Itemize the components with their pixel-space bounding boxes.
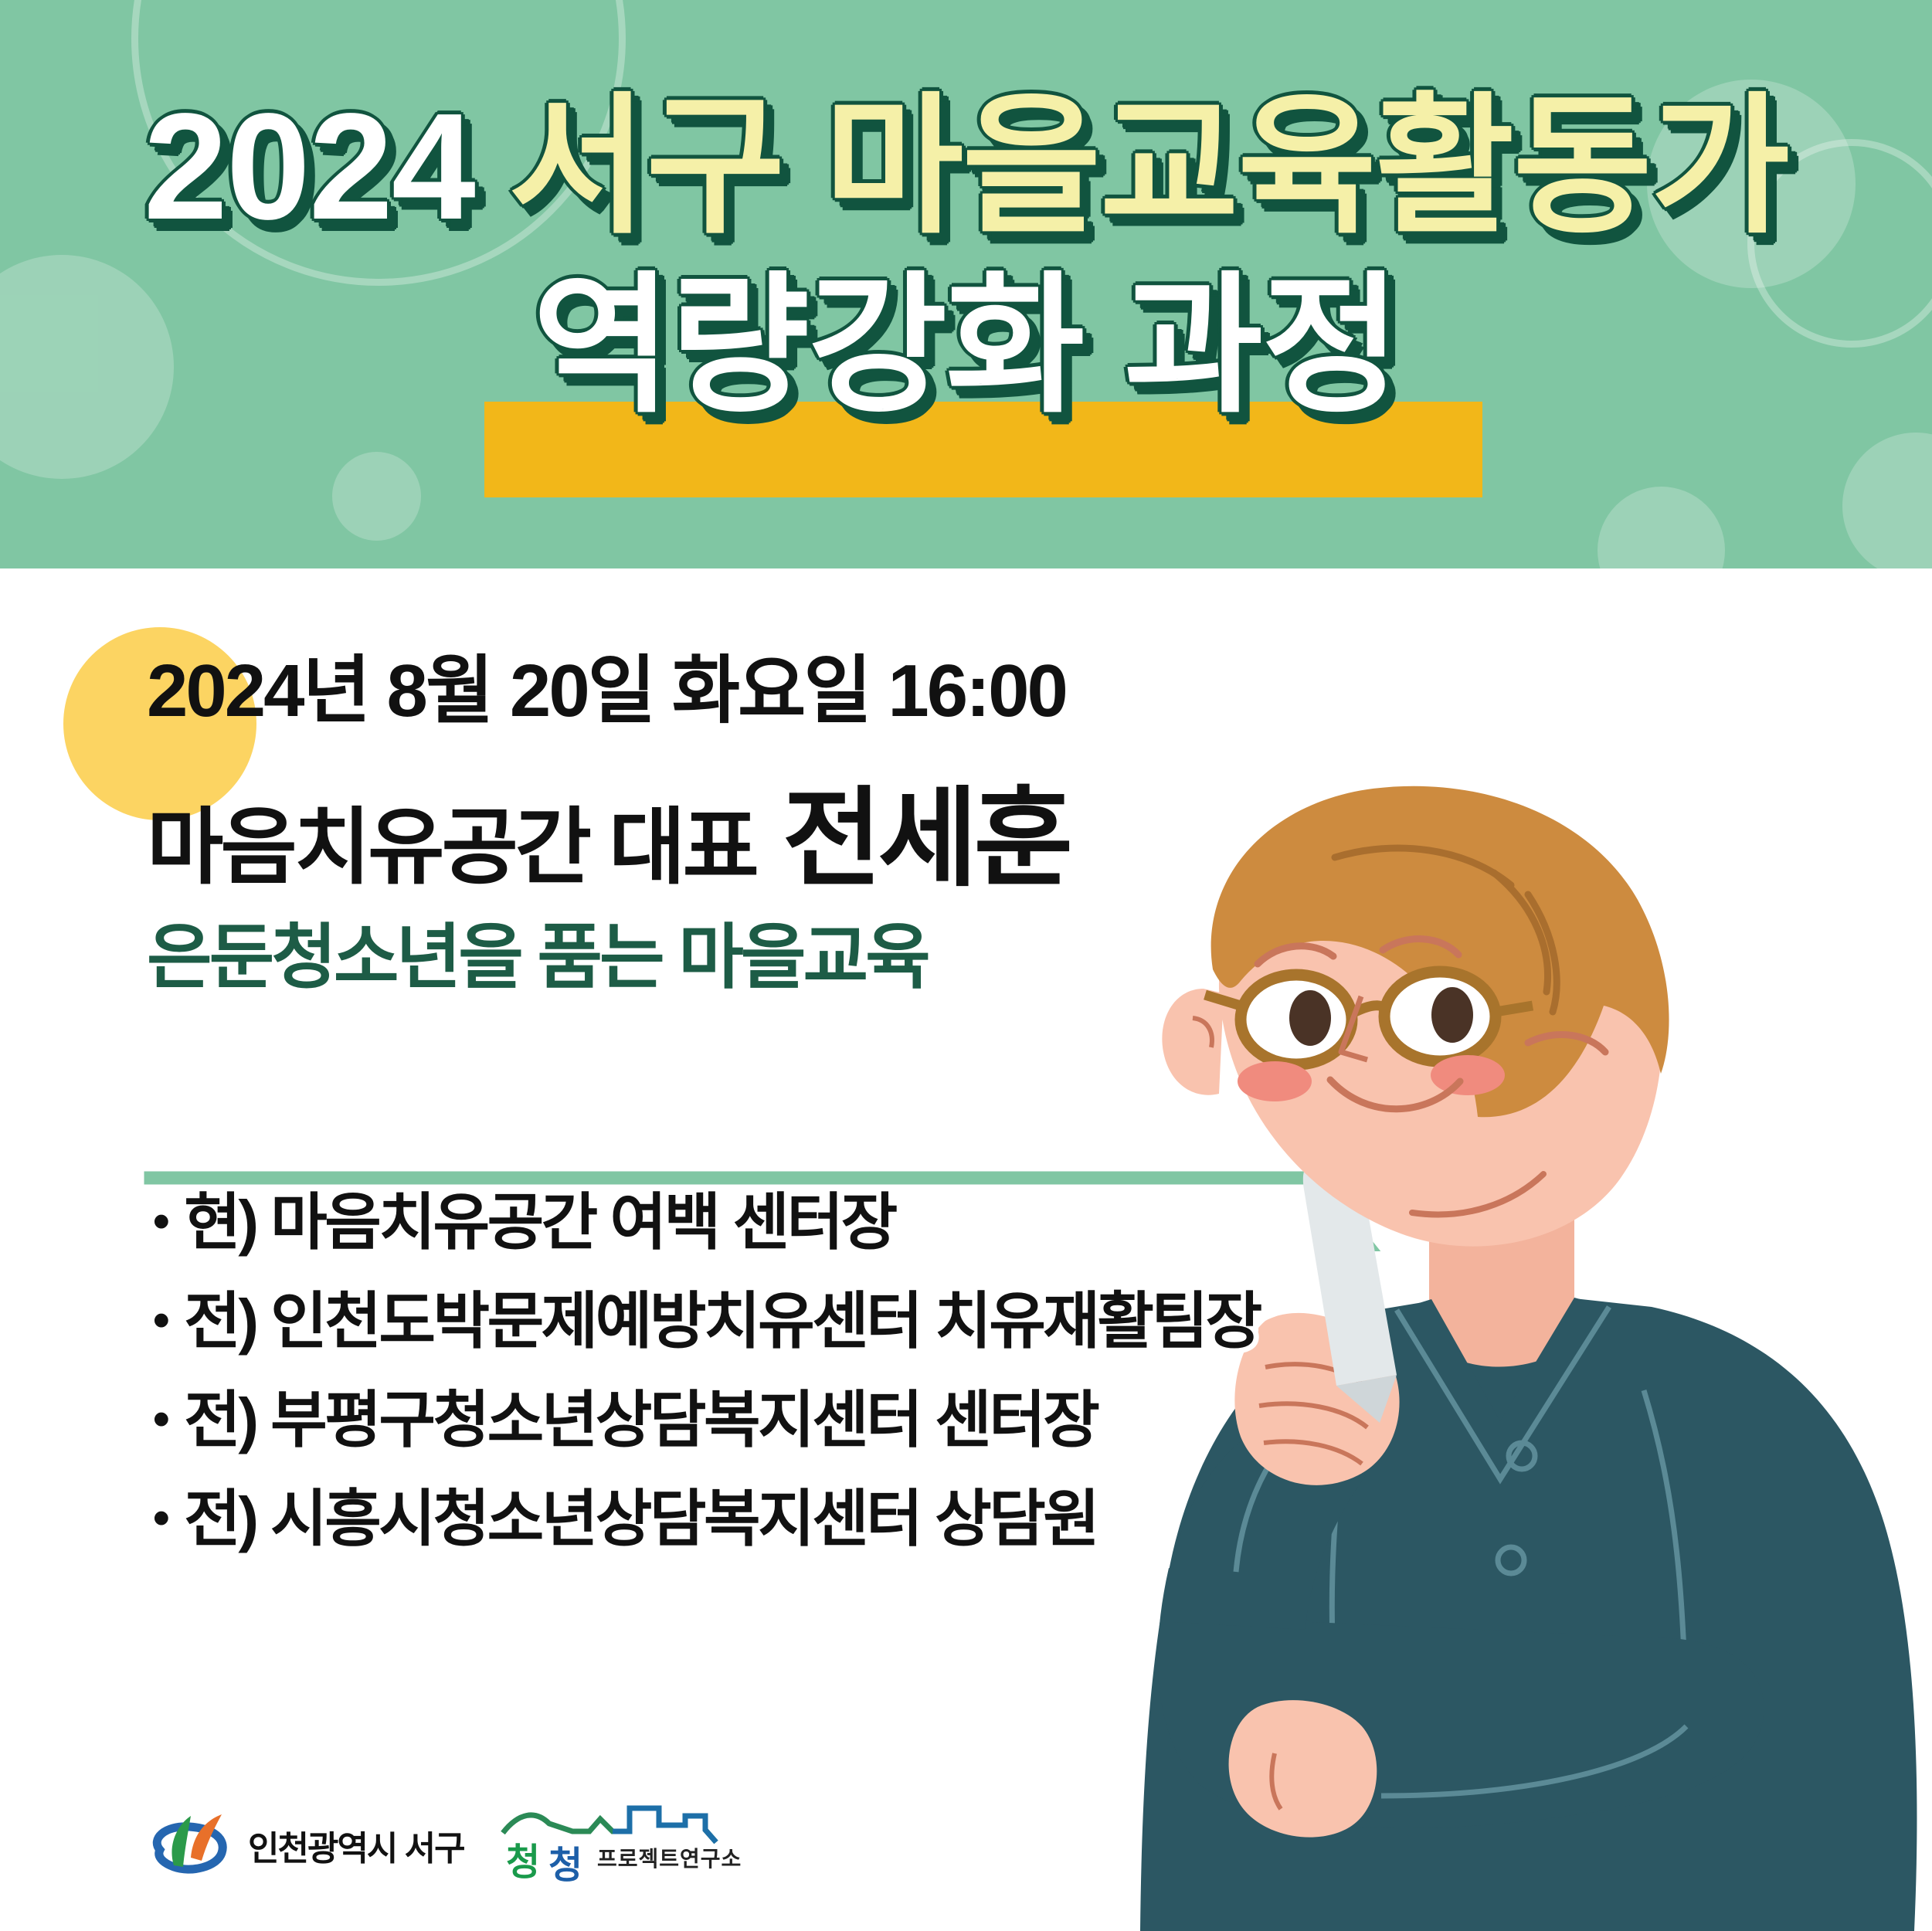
poster-title-block: 2024서구 마을교육활동가 역량강화 과정 [0, 0, 1932, 568]
speaker-name: 전세훈 [783, 778, 1069, 899]
session-date-time: 2024년 8월 20일 화요일 16:00 [147, 650, 1306, 732]
list-item: • 전) 인천도박문제예방치유센터 치유재활팀장 [153, 1291, 1466, 1352]
credential-text: 전) 인천도박문제예방치유센터 치유재활팀장 [184, 1291, 1260, 1352]
credential-text: 전) 부평구청소년상담복지센터 센터장 [184, 1390, 1097, 1451]
incheon-emblem-icon [151, 1810, 236, 1881]
cheongcheong-project-logo: 청 청 프로젝트연구소 [498, 1802, 830, 1895]
cheongcheong-char-1: 청 [506, 1831, 538, 1885]
bullet-icon: • [153, 1297, 167, 1345]
title-line-1: 2024서구 마을교육활동가 [0, 91, 1932, 243]
title-main: 서구 마을교육활동가 [508, 82, 1788, 251]
bullet-icon: • [153, 1495, 167, 1542]
bullet-icon: • [153, 1396, 167, 1444]
title-line-2: 역량강화 과정 [0, 270, 1932, 422]
speaker-affiliation: 마음치유공간 대표 [147, 800, 756, 894]
credential-text: 전) 시흥시청소년상담복지센터 상담원 [184, 1488, 1097, 1550]
cheongcheong-char-2: 청 [548, 1834, 580, 1889]
title-year: 2024 [144, 82, 474, 251]
credential-text: 현) 마음치유공간 여백 센터장 [184, 1192, 895, 1254]
list-item: • 전) 부평구청소년상담복지센터 센터장 [153, 1390, 1466, 1451]
list-item: • 전) 시흥시청소년상담복지센터 상담원 [153, 1488, 1466, 1550]
logo-row: 인천광역시 서구 청 청 프로젝트연구소 [151, 1796, 846, 1912]
list-item: • 현) 마음치유공간 여백 센터장 [153, 1192, 1466, 1254]
cheongcheong-sublabel: 프로젝트연구소 [597, 1842, 742, 1873]
credentials-list: • 현) 마음치유공간 여백 센터장 • 전) 인천도박문제예방치유센터 치유재… [153, 1192, 1466, 1587]
bullet-icon: • [153, 1198, 167, 1246]
title-subtitle: 역량강화 과정 [532, 261, 1399, 430]
incheon-seo-gu-label: 인천광역시 서구 [248, 1821, 464, 1870]
poster-header: 2024서구 마을교육활동가 역량강화 과정 [0, 0, 1932, 568]
incheon-seo-gu-logo: 인천광역시 서구 [151, 1810, 464, 1881]
